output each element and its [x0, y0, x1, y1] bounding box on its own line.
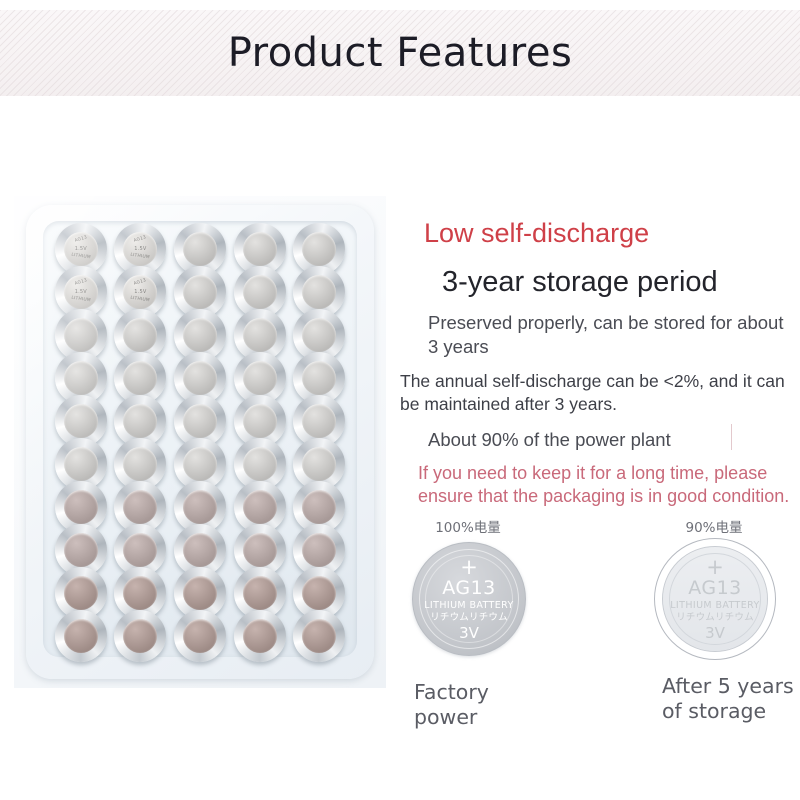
battery-cell-face	[243, 232, 277, 266]
product-features-page: Product Features AG131.5VLITHIUMAG131.5V…	[0, 0, 800, 800]
battery-cell-face	[183, 318, 217, 352]
battery-cell	[113, 442, 167, 485]
battery-cell	[173, 442, 227, 485]
battery-cell	[292, 270, 346, 313]
battery-cell-face	[123, 490, 157, 524]
heading-low-self-discharge: Low self-discharge	[424, 218, 794, 249]
battery-cell-face	[123, 576, 157, 610]
battery-cell-face	[183, 404, 217, 438]
battery-cell-face	[183, 533, 217, 567]
battery-cell-face	[183, 490, 217, 524]
battery-chemistry-jp-text: リチウムリチウム	[424, 613, 514, 623]
feature-text-column: Low self-discharge 3-year storage period…	[398, 200, 794, 509]
battery-cell	[54, 356, 108, 399]
battery-cell-face	[243, 361, 277, 395]
battery-cell-face	[243, 619, 277, 653]
battery-cell: AG131.5VLITHIUM	[54, 227, 108, 270]
blister-tray: AG131.5VLITHIUMAG131.5VLITHIUMAG131.5VLI…	[26, 205, 374, 679]
battery-cell	[54, 485, 108, 528]
battery-cell	[113, 571, 167, 614]
polarity-plus-icon: +	[670, 556, 760, 578]
battery-cell-face	[123, 404, 157, 438]
battery-cell	[173, 356, 227, 399]
battery-cell	[233, 356, 287, 399]
battery-cell: AG131.5VLITHIUM	[54, 270, 108, 313]
battery-cell	[292, 485, 346, 528]
battery-cell	[173, 485, 227, 528]
paragraph-preserved: Preserved properly, can be stored for ab…	[428, 311, 794, 359]
battery-cell-print: AG131.5VLITHIUM	[124, 233, 156, 265]
charge-comparison-diagram: 100%电量 + AG13 LITHIUM BATTERY リチウムリチウム 3…	[398, 516, 794, 766]
battery-cell	[292, 528, 346, 571]
caption-factory-power: Factory power	[414, 680, 554, 730]
battery-cell	[233, 227, 287, 270]
battery-tray-photo: AG131.5VLITHIUMAG131.5VLITHIUMAG131.5VLI…	[14, 196, 386, 688]
battery-cell-face	[302, 576, 336, 610]
battery-cell-face	[64, 533, 98, 567]
label-100-percent-charge: 100%电量	[412, 516, 524, 536]
battery-cell-face	[183, 619, 217, 653]
battery-cell	[113, 399, 167, 442]
battery-cell	[233, 528, 287, 571]
battery-cell	[113, 485, 167, 528]
coin-cell-partial-icon: + AG13 LITHIUM BATTERY リチウムリチウム 3V	[654, 538, 776, 660]
battery-model-text: AG13	[424, 579, 514, 599]
battery-cell-face	[302, 533, 336, 567]
battery-cell	[233, 270, 287, 313]
battery-voltage-text: 3V	[670, 626, 760, 642]
heading-storage-period: 3-year storage period	[442, 266, 794, 299]
paragraph-annual-discharge: The annual self-discharge can be <2%, an…	[400, 370, 794, 416]
battery-cell-face	[64, 576, 98, 610]
battery-cell	[54, 399, 108, 442]
battery-cell	[292, 571, 346, 614]
battery-cell	[113, 313, 167, 356]
battery-chemistry-jp-text: リチウムリチウム	[670, 613, 760, 623]
battery-cell-face	[243, 404, 277, 438]
battery-cell-face	[183, 275, 217, 309]
battery-cell	[233, 485, 287, 528]
battery-cell	[54, 614, 108, 657]
battery-cell	[173, 399, 227, 442]
label-90-percent-charge: 90%电量	[654, 516, 774, 536]
battery-cell	[233, 614, 287, 657]
battery-cell-face	[243, 318, 277, 352]
battery-cell	[173, 270, 227, 313]
battery-cell-print: AG131.5VLITHIUM	[65, 233, 97, 265]
battery-cell	[292, 614, 346, 657]
paragraph-power-plant: About 90% of the power plant	[428, 428, 794, 452]
battery-cell: AG131.5VLITHIUM	[113, 270, 167, 313]
battery-cell	[292, 356, 346, 399]
battery-cell-face	[123, 361, 157, 395]
battery-cell	[54, 528, 108, 571]
battery-cell-face	[64, 490, 98, 524]
battery-cell-face	[302, 447, 336, 481]
battery-cell-face	[64, 361, 98, 395]
battery-cell	[113, 614, 167, 657]
battery-cell-grid: AG131.5VLITHIUMAG131.5VLITHIUMAG131.5VLI…	[51, 227, 349, 649]
battery-cell-face	[302, 404, 336, 438]
battery-cell	[54, 313, 108, 356]
battery-cell-face	[243, 447, 277, 481]
page-title: Product Features	[228, 33, 573, 73]
battery-cell	[233, 571, 287, 614]
battery-cell	[292, 227, 346, 270]
battery-cell	[292, 399, 346, 442]
battery-cell-face	[123, 318, 157, 352]
battery-cell-face	[123, 447, 157, 481]
battery-cell	[292, 442, 346, 485]
battery-cell-face	[302, 232, 336, 266]
battery-cell-face	[302, 275, 336, 309]
battery-cell-face	[302, 619, 336, 653]
battery-chemistry-text: LITHIUM BATTERY	[424, 601, 514, 611]
battery-cell-face	[243, 275, 277, 309]
battery-cell-face	[123, 533, 157, 567]
battery-cell	[173, 571, 227, 614]
battery-cell-face	[183, 447, 217, 481]
battery-cell	[173, 614, 227, 657]
battery-cell	[113, 356, 167, 399]
battery-cell: AG131.5VLITHIUM	[113, 227, 167, 270]
battery-cell-print: AG131.5VLITHIUM	[124, 276, 156, 308]
battery-model-text: AG13	[670, 579, 760, 599]
battery-cell	[292, 313, 346, 356]
battery-cell	[233, 442, 287, 485]
coin-cell-full-icon: + AG13 LITHIUM BATTERY リチウムリチウム 3V	[412, 542, 526, 656]
battery-cell-face	[64, 404, 98, 438]
battery-cell	[233, 313, 287, 356]
battery-cell-face	[243, 576, 277, 610]
battery-cell-face	[183, 232, 217, 266]
caption-after-five-years: After 5 years of storage	[662, 674, 800, 724]
battery-cell-face	[64, 619, 98, 653]
decorative-hairline	[731, 424, 732, 450]
tray-inner-well: AG131.5VLITHIUMAG131.5VLITHIUMAG131.5VLI…	[43, 221, 357, 657]
battery-cell	[173, 313, 227, 356]
battery-cell	[54, 442, 108, 485]
paragraph-packaging-warning: If you need to keep it for a long time, …	[418, 462, 794, 509]
battery-cell	[113, 528, 167, 571]
battery-cell-face	[302, 490, 336, 524]
battery-chemistry-text: LITHIUM BATTERY	[670, 601, 760, 611]
battery-cell-print: AG131.5VLITHIUM	[65, 276, 97, 308]
battery-cell-face	[183, 576, 217, 610]
battery-cell-face	[302, 361, 336, 395]
battery-cell-face	[243, 533, 277, 567]
battery-cell-face	[183, 361, 217, 395]
battery-cell	[173, 528, 227, 571]
battery-cell	[233, 399, 287, 442]
battery-cell-face	[302, 318, 336, 352]
battery-cell-face	[64, 318, 98, 352]
header-banner: Product Features	[0, 10, 800, 96]
battery-cell-face	[123, 619, 157, 653]
battery-cell	[54, 571, 108, 614]
battery-cell-face	[243, 490, 277, 524]
polarity-plus-icon: +	[424, 556, 514, 578]
battery-cell	[173, 227, 227, 270]
battery-cell-face	[64, 447, 98, 481]
battery-voltage-text: 3V	[424, 626, 514, 642]
